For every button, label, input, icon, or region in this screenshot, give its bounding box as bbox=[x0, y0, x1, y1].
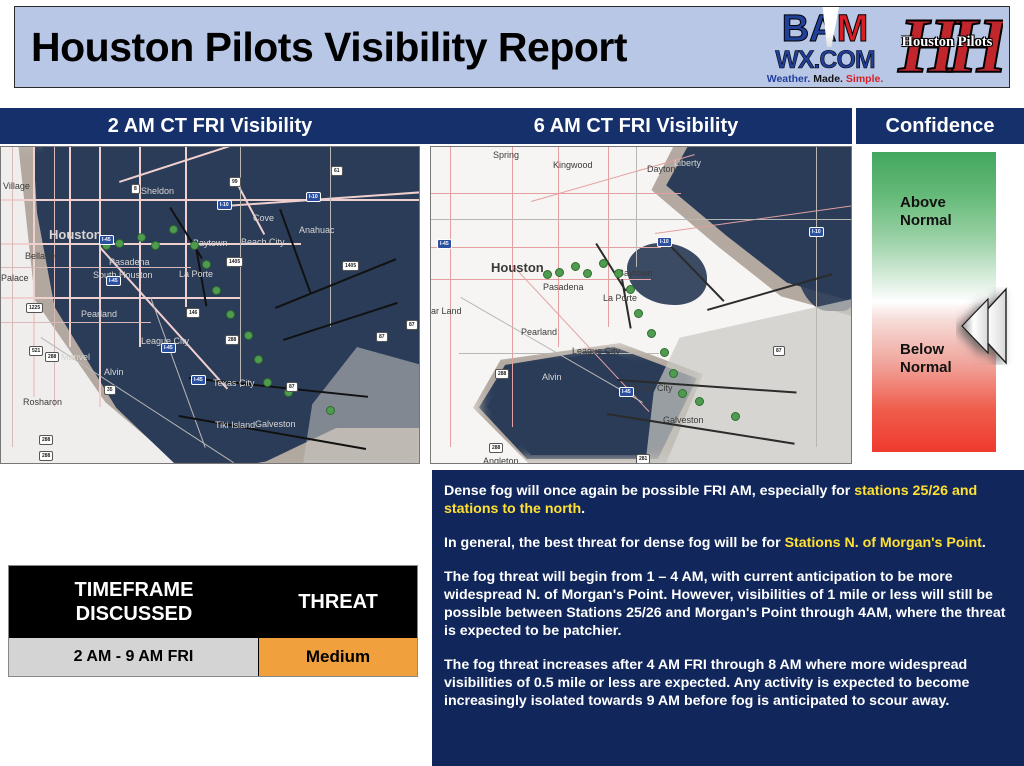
city-label: Texas City bbox=[631, 383, 673, 393]
map2-road bbox=[512, 147, 513, 427]
bamwx-wordmark: B A M bbox=[763, 10, 887, 48]
discussion-paragraph-1: Dense fog will once again be possible FR… bbox=[444, 482, 1010, 518]
route-shield: 521 bbox=[29, 346, 43, 356]
hp-logo-label: Houston Pilots bbox=[895, 34, 999, 51]
city-label: Liberty bbox=[674, 158, 701, 168]
station-dot[interactable] bbox=[555, 268, 564, 277]
city-label: Spring bbox=[493, 150, 519, 160]
map2-road bbox=[558, 147, 559, 347]
map2-header: 6 AM CT FRI Visibility bbox=[420, 108, 852, 144]
tagline-weather: Weather. bbox=[767, 73, 811, 85]
city-label: Anahuac bbox=[299, 225, 335, 235]
station-dot[interactable] bbox=[669, 369, 678, 378]
visibility-report-page: Houston Pilots Visibility Report B A M W… bbox=[0, 0, 1024, 766]
city-label: Baytown bbox=[618, 268, 653, 278]
route-shield: 8 bbox=[131, 184, 140, 194]
city-label: South Houston bbox=[93, 270, 153, 280]
table-row: 2 AM - 9 AM FRI Medium bbox=[9, 638, 417, 676]
map1-highway bbox=[139, 147, 141, 347]
route-shield: I-45 bbox=[437, 239, 452, 249]
city-label: Rosharon bbox=[23, 397, 62, 407]
route-shield: 288 bbox=[39, 435, 53, 445]
route-shield: I-45 bbox=[99, 235, 114, 245]
threat-level-badge: Medium bbox=[259, 638, 417, 676]
above-line-2: Normal bbox=[900, 212, 952, 230]
city-label: Manvel bbox=[61, 352, 90, 362]
city-label: Cove bbox=[253, 213, 274, 223]
city-label: Alvin bbox=[542, 372, 562, 382]
station-dot[interactable] bbox=[599, 259, 608, 268]
logo-group: B A M WX.COM Weather. Made. Simple. HH H… bbox=[763, 10, 1009, 84]
city-label: Alvin bbox=[104, 367, 124, 377]
bamwx-letter-b: B bbox=[782, 11, 809, 47]
map2-road bbox=[816, 147, 817, 447]
map1-highway bbox=[1, 199, 420, 201]
route-shield: 87 bbox=[286, 382, 298, 392]
city-label: Houston bbox=[491, 260, 544, 275]
city-label: Galveston bbox=[255, 419, 296, 429]
route-shield: 288 bbox=[495, 369, 509, 379]
route-shield: I-45 bbox=[619, 387, 634, 397]
station-dot[interactable] bbox=[634, 309, 643, 318]
page-title: Houston Pilots Visibility Report bbox=[31, 24, 627, 71]
station-dot[interactable] bbox=[583, 269, 592, 278]
city-label: Kingwood bbox=[553, 160, 593, 170]
timeframe-header-line1: TIMEFRAME bbox=[75, 578, 194, 602]
city-label: Pasadena bbox=[109, 257, 150, 267]
route-shield: 87 bbox=[376, 332, 388, 342]
city-label: League City bbox=[572, 346, 620, 356]
station-dot[interactable] bbox=[626, 285, 635, 294]
city-label: Tiki Island bbox=[215, 420, 255, 430]
station-dot[interactable] bbox=[263, 378, 272, 387]
route-shield: I-10 bbox=[657, 237, 672, 247]
station-dot[interactable] bbox=[731, 412, 740, 421]
station-dot[interactable] bbox=[660, 348, 669, 357]
map1-highway bbox=[69, 147, 71, 347]
city-label: Pearland bbox=[521, 327, 557, 337]
city-label: ar Land bbox=[431, 306, 462, 316]
forecast-discussion-panel: Dense fog will once again be possible FR… bbox=[432, 470, 1024, 766]
timeframe-header-line2: DISCUSSED bbox=[75, 602, 194, 626]
city-label: Village bbox=[3, 181, 30, 191]
station-dot[interactable] bbox=[254, 355, 263, 364]
p2-text-a: In general, the best threat for dense fo… bbox=[444, 535, 785, 551]
map1-road bbox=[1, 267, 191, 268]
bamwx-letter-m: M bbox=[837, 11, 869, 47]
city-label: Angleton bbox=[483, 456, 519, 464]
map1-road bbox=[54, 147, 55, 407]
p2-text-b: . bbox=[982, 535, 986, 551]
map2-road bbox=[459, 353, 659, 354]
station-dot[interactable] bbox=[244, 331, 253, 340]
station-dot[interactable] bbox=[647, 329, 656, 338]
station-dot[interactable] bbox=[543, 270, 552, 279]
city-label: Texas City bbox=[213, 378, 255, 388]
city-label: Sheldon bbox=[141, 186, 174, 196]
discussion-paragraph-4: The fog threat increases after 4 AM FRI … bbox=[444, 656, 1010, 710]
route-shield: 288 bbox=[225, 335, 239, 345]
route-shield: 146 bbox=[186, 308, 200, 318]
city-label: Houston bbox=[49, 227, 102, 242]
map2-road bbox=[431, 247, 661, 248]
map2-road bbox=[450, 147, 451, 447]
route-shield: 87 bbox=[406, 320, 418, 330]
map2-canvas: SpringKingwoodDaytonLibertyHoustonBaytow… bbox=[431, 147, 851, 463]
map1-highway bbox=[33, 147, 35, 397]
tagline-made: Made. bbox=[813, 73, 843, 85]
station-dot[interactable] bbox=[571, 262, 580, 271]
route-shield: 288 bbox=[489, 443, 503, 453]
confidence-above-normal-label: Above Normal bbox=[900, 194, 952, 230]
route-shield: I-45 bbox=[106, 276, 121, 286]
station-dot[interactable] bbox=[614, 269, 623, 278]
table-header-row: TIMEFRAME DISCUSSED THREAT bbox=[9, 566, 417, 638]
city-label: Beach City bbox=[241, 237, 285, 247]
confidence-pointer-chevron-icon bbox=[956, 287, 1016, 365]
station-dot[interactable] bbox=[326, 406, 335, 415]
station-dot[interactable] bbox=[212, 286, 221, 295]
timeframe-threat-table: TIMEFRAME DISCUSSED THREAT 2 AM - 9 AM F… bbox=[8, 565, 418, 677]
timeframe-value: 2 AM - 9 AM FRI bbox=[9, 638, 259, 676]
bamwx-logo: B A M WX.COM Weather. Made. Simple. bbox=[763, 10, 887, 84]
timeframe-column-header: TIMEFRAME DISCUSSED bbox=[9, 566, 259, 638]
route-shield: 288 bbox=[39, 451, 53, 461]
report-title-bar: Houston Pilots Visibility Report B A M W… bbox=[14, 6, 1010, 88]
map1-highway bbox=[185, 147, 187, 307]
route-shield: I-45 bbox=[161, 343, 176, 353]
confidence-header: Confidence bbox=[856, 108, 1024, 144]
route-shield: I-10 bbox=[809, 227, 824, 237]
city-label: Dayton bbox=[647, 164, 676, 174]
below-line-1: Below bbox=[900, 341, 952, 359]
map2-road bbox=[636, 147, 637, 267]
map-2am-visibility[interactable]: VillageHoustonSheldonBellairePasadenaSou… bbox=[0, 146, 420, 464]
route-shield: 35 bbox=[104, 385, 116, 395]
confidence-gauge-panel: Above Normal Below Normal bbox=[856, 146, 1024, 464]
p1-text-a: Dense fog will once again be possible FR… bbox=[444, 483, 854, 499]
station-dot[interactable] bbox=[678, 389, 687, 398]
below-line-2: Normal bbox=[900, 359, 952, 377]
station-dot[interactable] bbox=[190, 241, 199, 250]
above-line-1: Above bbox=[900, 194, 952, 212]
confidence-below-normal-label: Below Normal bbox=[900, 341, 952, 377]
p2-highlight: Stations N. of Morgan's Point bbox=[785, 535, 982, 551]
route-shield: I-10 bbox=[217, 200, 232, 210]
station-dot[interactable] bbox=[115, 239, 124, 248]
p1-text-b: . bbox=[581, 501, 585, 517]
map2-road bbox=[431, 219, 851, 220]
route-shield: 1405 bbox=[342, 261, 359, 271]
route-shield: 288 bbox=[45, 352, 59, 362]
threat-column-header: THREAT bbox=[259, 566, 417, 638]
city-label: Palace bbox=[1, 273, 29, 283]
station-dot[interactable] bbox=[202, 260, 211, 269]
route-shield: 61 bbox=[331, 166, 343, 176]
route-shield: 99 bbox=[229, 177, 241, 187]
discussion-paragraph-3: The fog threat will begin from 1 – 4 AM,… bbox=[444, 568, 1010, 640]
map-6am-visibility[interactable]: SpringKingwoodDaytonLibertyHoustonBaytow… bbox=[430, 146, 852, 464]
route-shield: 1225 bbox=[26, 303, 43, 313]
station-dot[interactable] bbox=[169, 225, 178, 234]
map1-canvas: VillageHoustonSheldonBellairePasadenaSou… bbox=[1, 147, 419, 463]
bamwx-tagline: Weather. Made. Simple. bbox=[763, 73, 887, 85]
city-label: Pasadena bbox=[543, 282, 584, 292]
bamwx-domain: WX.COM bbox=[763, 48, 887, 72]
map1-header: 2 AM CT FRI Visibility bbox=[0, 108, 420, 144]
route-shield: I-45 bbox=[191, 375, 206, 385]
city-label: Pearland bbox=[81, 309, 117, 319]
houston-pilots-logo: HH Houston Pilots bbox=[891, 10, 1003, 84]
route-shield: 1405 bbox=[226, 257, 243, 267]
route-shield: 87 bbox=[773, 346, 785, 356]
city-label: Bellaire bbox=[25, 251, 55, 261]
station-dot[interactable] bbox=[695, 397, 704, 406]
discussion-paragraph-2: In general, the best threat for dense fo… bbox=[444, 534, 1010, 552]
city-label: Galveston bbox=[663, 415, 704, 425]
city-label: La Porte bbox=[179, 269, 213, 279]
station-dot[interactable] bbox=[151, 241, 160, 250]
map1-road bbox=[1, 322, 151, 323]
map1-road bbox=[12, 147, 13, 447]
station-dot[interactable] bbox=[226, 310, 235, 319]
tagline-simple: Simple. bbox=[846, 73, 883, 85]
station-dot[interactable] bbox=[137, 233, 146, 242]
route-shield: I-10 bbox=[306, 192, 321, 202]
route-shield: 281 bbox=[636, 454, 650, 464]
city-label: La Porte bbox=[603, 293, 637, 303]
